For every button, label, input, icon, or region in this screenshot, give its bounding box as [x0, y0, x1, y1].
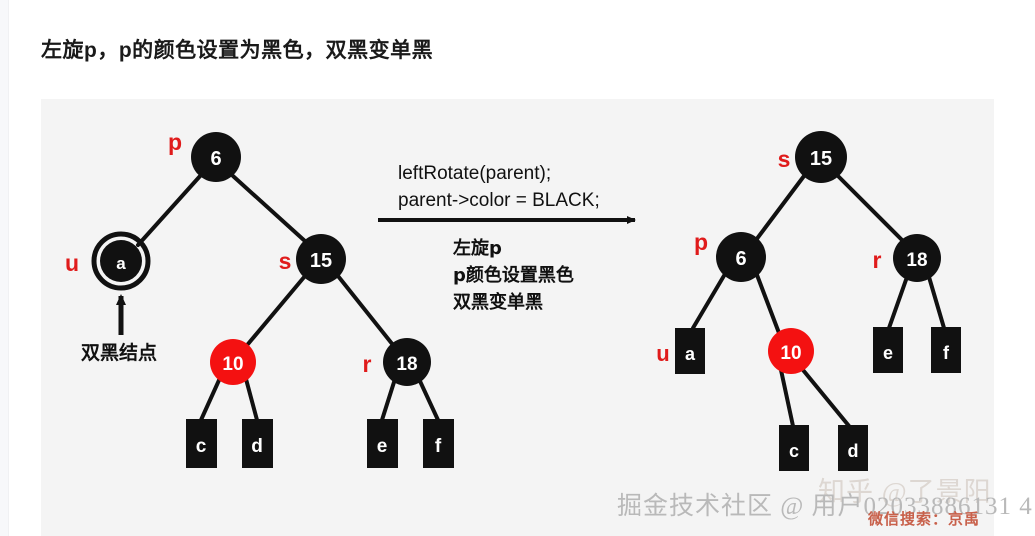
edge-R18-Rf [929, 277, 944, 328]
note-line-3: 双黑变单黑 [453, 291, 543, 313]
leaf-value: e [377, 436, 388, 457]
node-value: a [116, 254, 126, 273]
leaf-left-e[interactable]: e [367, 419, 398, 468]
node-left-u-a-double-black[interactable]: a u [65, 234, 148, 288]
edge-R10-Rc [781, 370, 793, 426]
node-label-p: p [694, 229, 708, 255]
leaf-value: c [789, 441, 799, 461]
rb-tree-diagram: 6 p a u 双黑结点 15 s [41, 99, 994, 536]
node-value: 6 [210, 148, 221, 170]
leaf-value: d [848, 441, 859, 461]
leaf-value: f [435, 436, 442, 457]
diagram-panel: 6 p a u 双黑结点 15 s [41, 99, 994, 536]
leaf-value: f [943, 343, 950, 363]
edge-L10-Lc [201, 378, 220, 420]
edge-R6-Ra [693, 274, 725, 328]
leaf-left-f[interactable]: f [423, 419, 454, 468]
leaf-left-c[interactable]: c [186, 419, 217, 468]
edge-R18-Re [889, 277, 907, 328]
node-right-r-18[interactable]: 18 r [873, 234, 941, 282]
node-right-s-15[interactable]: 15 s [778, 131, 847, 183]
node-right-10-red[interactable]: 10 [768, 328, 814, 374]
node-value: 10 [222, 354, 243, 375]
leaf-left-d[interactable]: d [242, 419, 273, 468]
left-tree-edges [138, 175, 438, 420]
node-left-s-15[interactable]: 15 s [279, 234, 346, 284]
leaf-right-f[interactable]: f [931, 327, 961, 373]
edge-R6-R10 [757, 275, 779, 333]
edge-L10-Ld [246, 379, 257, 420]
node-label-r: r [873, 247, 882, 273]
left-tree: 6 p a u 双黑结点 15 s [65, 129, 454, 468]
code-line-1: leftRotate(parent); [398, 163, 551, 184]
right-tree-edges [693, 176, 944, 426]
right-tree: 15 s 6 p 18 r 10 a [656, 131, 961, 471]
leaf-right-u-a[interactable]: a u [656, 328, 705, 374]
node-label-p: p [168, 129, 182, 155]
leaf-value: d [251, 436, 263, 457]
note-line-1: 左旋p [453, 237, 502, 259]
double-black-caption: 双黑结点 [81, 341, 157, 364]
left-edge-stripe [0, 0, 9, 536]
node-value: 6 [735, 248, 746, 270]
node-left-p-6[interactable]: 6 p [168, 129, 241, 182]
leaf-value: a [685, 344, 696, 364]
edge-L15-L10 [248, 276, 305, 344]
node-label-s: s [778, 146, 791, 172]
page-title: 左旋p，p的颜色设置为黑色，双黑变单黑 [41, 34, 433, 64]
node-label-r: r [363, 351, 372, 377]
note-line-2: p颜色设置黑色 [453, 264, 574, 286]
edge-R10-Rd [803, 370, 849, 426]
edge-L6-La [138, 175, 201, 245]
leaf-label-u: u [656, 341, 669, 366]
leaf-right-c[interactable]: c [779, 425, 809, 471]
leaf-right-d[interactable]: d [838, 425, 868, 471]
node-left-10-red[interactable]: 10 [210, 339, 256, 385]
node-value: 10 [780, 343, 801, 364]
leaf-value: e [883, 343, 893, 363]
edge-L15-L18 [338, 276, 393, 345]
edge-L6-L15 [233, 176, 306, 242]
node-value: 15 [310, 250, 332, 272]
leaf-value: c [196, 436, 207, 457]
leaf-right-e[interactable]: e [873, 327, 903, 373]
edge-L18-Le [382, 379, 395, 420]
node-label-u: u [65, 250, 79, 276]
code-line-2: parent->color = BLACK; [398, 190, 600, 211]
node-value: 18 [396, 354, 417, 375]
node-left-r-18[interactable]: 18 r [363, 338, 431, 386]
double-black-callout: 双黑结点 [81, 296, 157, 364]
node-label-s: s [279, 248, 292, 274]
node-value: 18 [906, 250, 927, 271]
edge-L18-Lf [419, 379, 438, 420]
edge-R15-R6 [756, 176, 804, 240]
center-annotation: leftRotate(parent); parent->color = BLAC… [378, 163, 635, 313]
node-right-p-6[interactable]: 6 p [694, 229, 766, 282]
edge-R15-R18 [838, 176, 903, 241]
node-value: 15 [810, 148, 832, 170]
